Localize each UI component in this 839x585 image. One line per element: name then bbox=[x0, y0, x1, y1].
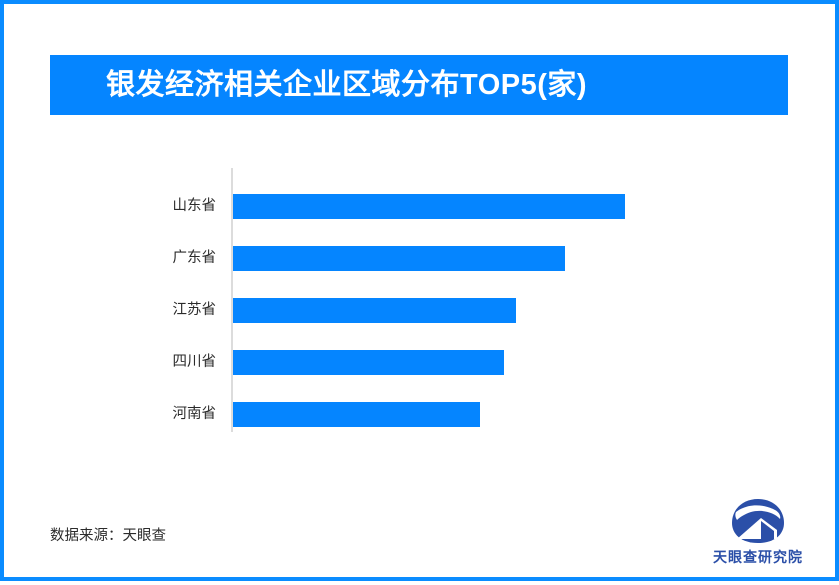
bar-category-label: 山东省 bbox=[64, 194, 216, 219]
brand-logo: 天眼查研究院 bbox=[698, 498, 818, 570]
bar-category-label: 河南省 bbox=[64, 402, 216, 427]
bar-row: 山东省 bbox=[64, 194, 824, 219]
bar-row: 河南省 bbox=[64, 402, 824, 427]
bar-category-label: 广东省 bbox=[64, 246, 216, 271]
bar-category-label: 江苏省 bbox=[64, 298, 216, 323]
tianyancha-eye-mountain-logo-icon bbox=[730, 498, 786, 544]
bar-四川省[interactable] bbox=[233, 350, 504, 375]
bar-江苏省[interactable] bbox=[233, 298, 516, 323]
bar-category-label: 四川省 bbox=[64, 350, 216, 375]
chart-page: 银发经济相关企业区域分布TOP5(家) 山东省 广东省 江苏省 四川省 河南省 … bbox=[0, 0, 839, 581]
bar-row: 广东省 bbox=[64, 246, 824, 271]
bar-row: 江苏省 bbox=[64, 298, 824, 323]
data-source-note: 数据来源：天眼查 bbox=[50, 524, 166, 545]
bar-河南省[interactable] bbox=[233, 402, 480, 427]
bar-row: 四川省 bbox=[64, 350, 824, 375]
brand-logo-text: 天眼查研究院 bbox=[713, 547, 803, 567]
bar-广东省[interactable] bbox=[233, 246, 565, 271]
bar-山东省[interactable] bbox=[233, 194, 625, 219]
